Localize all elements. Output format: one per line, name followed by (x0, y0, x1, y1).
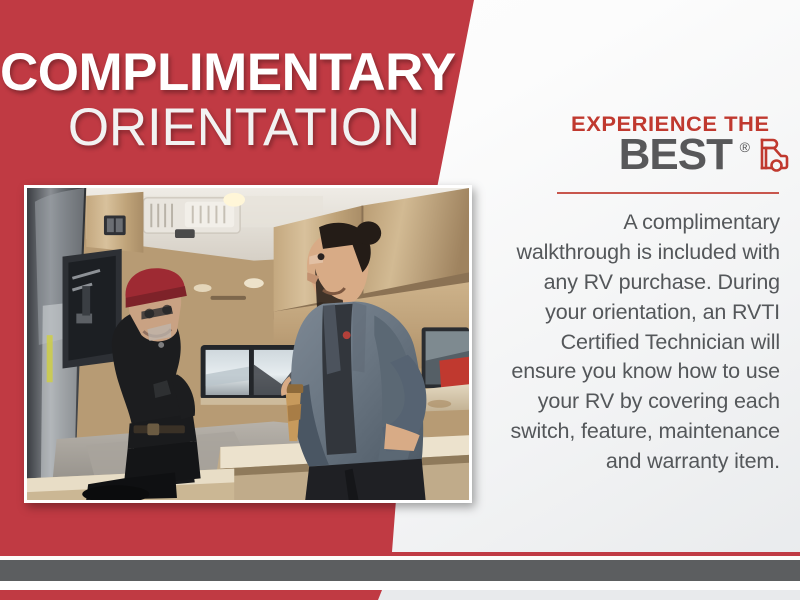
right-content-column: EXPERIENCE THE BEST ® A complimentary wa… (505, 108, 790, 498)
experience-the-best-logo: EXPERIENCE THE BEST ® (505, 108, 790, 186)
body-copy: A complimentary walkthrough is included … (505, 208, 790, 477)
footer-gray-bar (0, 560, 800, 581)
registered-trademark-symbol: ® (740, 140, 750, 154)
photo-image (27, 188, 469, 500)
headline-line-2: ORIENTATION (0, 103, 420, 154)
orientation-photo (24, 185, 472, 503)
rv-interior-illustration (27, 188, 469, 500)
rv-motorhome-icon (752, 135, 792, 175)
page-title: COMPLIMENTARY ORIENTATION (0, 48, 440, 154)
poster-canvas: COMPLIMENTARY ORIENTATION (0, 0, 800, 600)
logo-wordmark: BEST (619, 133, 732, 177)
footer-white-rule-bottom (0, 581, 800, 590)
headline-line-1: COMPLIMENTARY (0, 48, 420, 99)
logo-divider (557, 192, 779, 194)
